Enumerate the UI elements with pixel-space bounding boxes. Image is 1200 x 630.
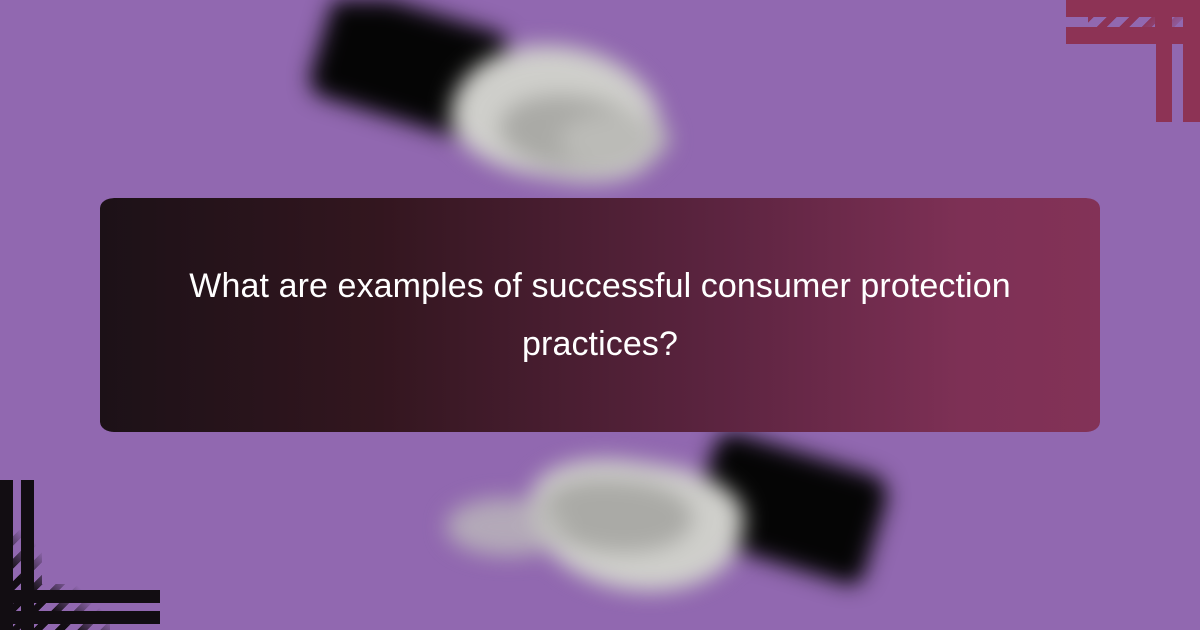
gloved-hand-bottom-fingers <box>445 496 565 558</box>
frame-bar-vertical-inner-tr <box>1155 0 1172 122</box>
frame-bar-horizontal-outer-tr <box>1066 0 1200 17</box>
frame-bar-horizontal-inner-tr <box>1066 27 1200 44</box>
corner-decoration-top-right <box>1040 0 1200 122</box>
frame-bar-horizontal-outer-bl <box>0 611 160 624</box>
corner-decoration-bottom-left <box>0 480 160 630</box>
frame-knockout-bl <box>42 474 172 584</box>
frame-knockout-tr <box>1036 44 1156 134</box>
frame-bar-vertical-outer-tr <box>1183 0 1200 122</box>
frame-bar-vertical-outer-bl <box>0 480 13 630</box>
frame-bar-vertical-inner-bl <box>21 480 34 630</box>
social-card: What are examples of successful consumer… <box>0 0 1200 630</box>
page-title: What are examples of successful consumer… <box>170 257 1030 374</box>
title-banner: What are examples of successful consumer… <box>100 198 1100 432</box>
frame-bar-horizontal-inner-bl <box>0 590 160 603</box>
title-banner-content: What are examples of successful consumer… <box>170 257 1030 374</box>
